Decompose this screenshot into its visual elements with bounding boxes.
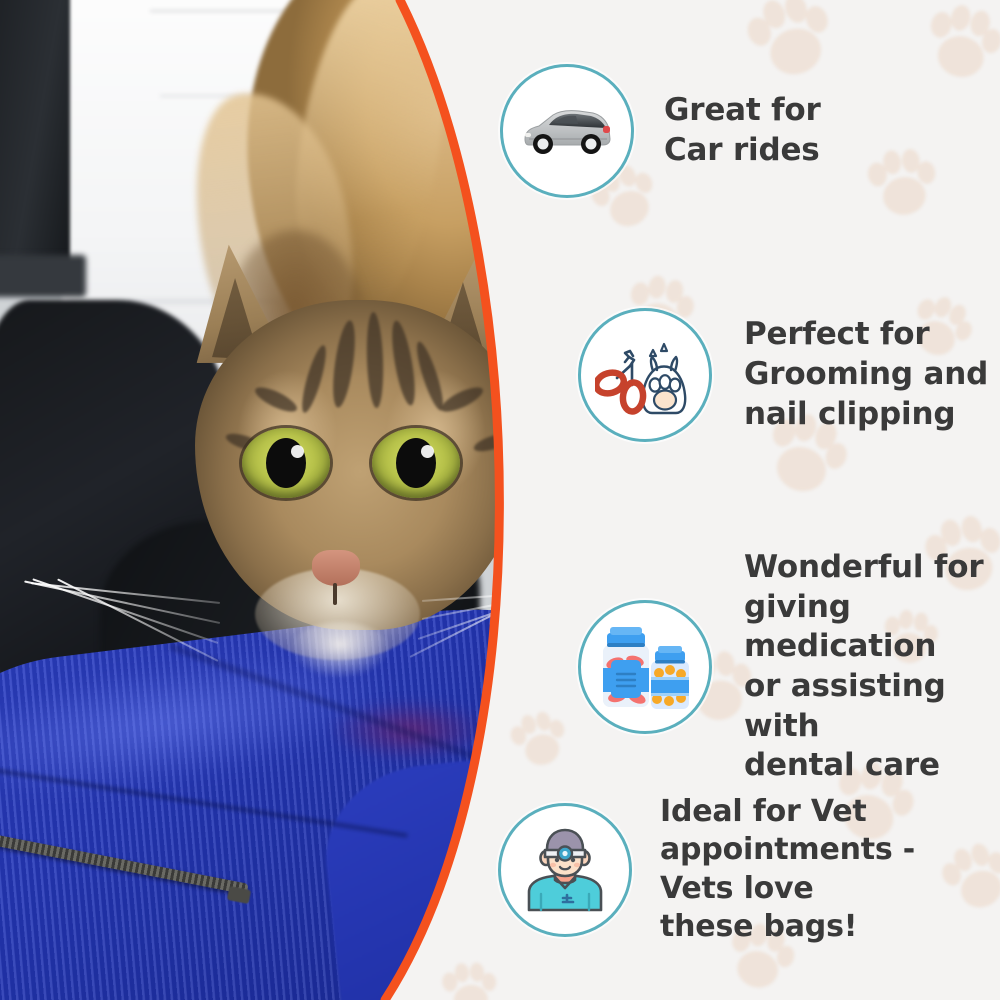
- feature-item-car-rides[interactable]: Great for Car rides: [500, 64, 821, 198]
- feature-icon-badge: [578, 600, 712, 734]
- feature-icon-badge: [578, 308, 712, 442]
- feature-text: Perfect for Grooming and nail clipping: [744, 315, 988, 434]
- feature-icon-badge: [498, 803, 632, 937]
- feature-text: Ideal for Vet appointments - Vets love t…: [660, 793, 915, 947]
- car-icon: [519, 103, 615, 159]
- infographic-canvas: Great for Car rides: [0, 0, 1000, 1000]
- feature-item-vet-appointments[interactable]: Ideal for Vet appointments - Vets love t…: [498, 793, 915, 947]
- feature-text: Wonderful for giving medication or assis…: [744, 548, 1000, 786]
- veterinarian-icon: [517, 822, 613, 918]
- feature-item-medication[interactable]: Wonderful for giving medication or assis…: [578, 548, 1000, 786]
- feature-icon-badge: [500, 64, 634, 198]
- nail-clippers-paw-icon: [595, 329, 695, 421]
- feature-item-grooming[interactable]: Perfect for Grooming and nail clipping: [578, 308, 988, 442]
- feature-text: Great for Car rides: [664, 91, 821, 170]
- pill-bottles-icon: [593, 619, 697, 715]
- feature-list: Great for Car rides: [0, 0, 1000, 1000]
